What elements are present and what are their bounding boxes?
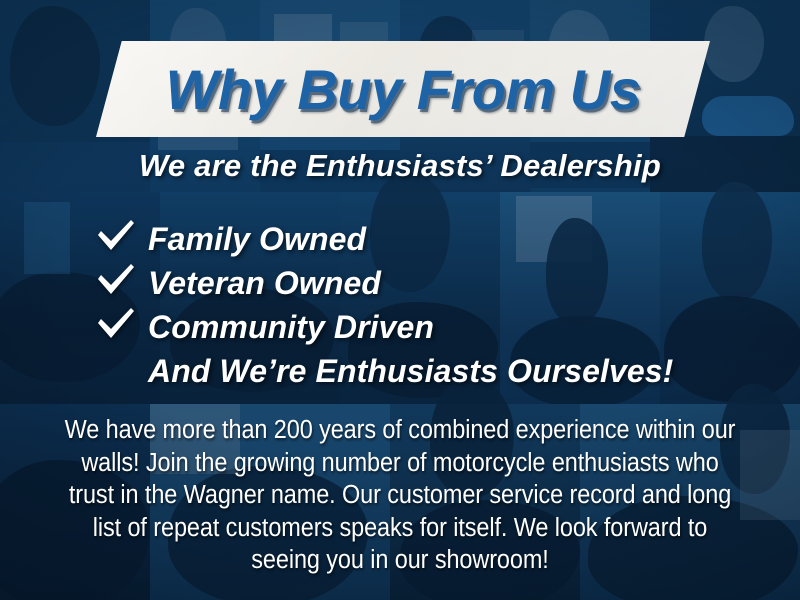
description-paragraph: We have more than 200 years of combined … — [58, 414, 742, 577]
list-item-label: And We’re Enthusiasts Ourselves! — [148, 350, 673, 392]
list-item-label: Family Owned — [148, 218, 366, 260]
photo-shape — [704, 6, 764, 82]
checkmark-icon — [96, 262, 148, 296]
checkmark-icon — [96, 306, 148, 340]
list-item: Veteran Owned — [96, 262, 756, 306]
page-title: Why Buy From Us — [96, 41, 710, 137]
list-item-label: Community Driven — [148, 306, 434, 348]
motorcycle-tank-shape — [702, 96, 794, 136]
list-item: Community Driven — [96, 306, 756, 350]
list-item: Family Owned — [96, 218, 756, 262]
why-buy-from-us-banner: Why Buy From Us We are the Enthusiasts’ … — [0, 0, 800, 600]
photo-shape — [10, 6, 100, 126]
photo-shape — [740, 430, 800, 520]
benefits-checklist: Family Owned Veteran Owned Community Dri… — [96, 218, 756, 394]
list-item-label: Veteran Owned — [148, 262, 381, 304]
list-item: And We’re Enthusiasts Ourselves! — [96, 350, 756, 394]
photo-shape — [24, 202, 70, 274]
checkmark-icon — [96, 218, 148, 252]
subtitle: We are the Enthusiasts’ Dealership — [0, 148, 800, 184]
